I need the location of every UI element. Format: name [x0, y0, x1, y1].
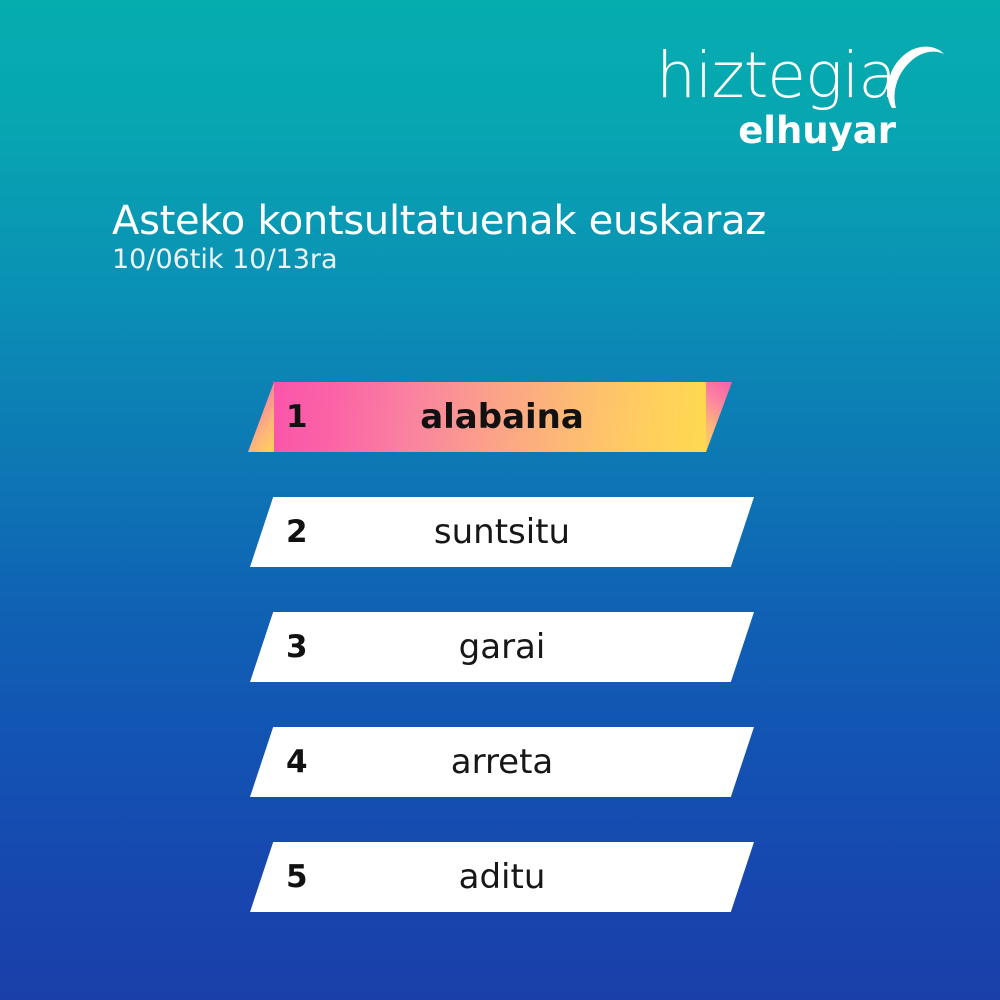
crescent-swoosh-icon	[876, 42, 948, 114]
ranking-row[interactable]: 3 garai	[0, 612, 1000, 682]
brand-sub-wordmark: elhuyar	[738, 112, 896, 149]
ranking-list: 1 alabaina 2 suntsitu 3 garai 4 arreta 5…	[0, 382, 1000, 957]
brand-logo: hiztegia elhuyar	[648, 44, 948, 164]
rank-word: aditu	[250, 842, 754, 912]
rank-word: garai	[250, 612, 754, 682]
ranking-row[interactable]: 1 alabaina	[0, 382, 1000, 452]
ranking-row[interactable]: 5 aditu	[0, 842, 1000, 912]
rank-word: suntsitu	[250, 497, 754, 567]
ranking-row[interactable]: 4 arreta	[0, 727, 1000, 797]
rank-word: alabaina	[250, 382, 754, 452]
page-subtitle: 10/06tik 10/13ra	[112, 245, 338, 275]
page-title: Asteko kontsultatuenak euskaraz	[112, 200, 766, 243]
brand-wordmark: hiztegia	[656, 44, 896, 107]
ranking-row[interactable]: 2 suntsitu	[0, 497, 1000, 567]
poster-canvas: hiztegia elhuyar Asteko kontsultatuenak …	[0, 0, 1000, 1000]
rank-word: arreta	[250, 727, 754, 797]
